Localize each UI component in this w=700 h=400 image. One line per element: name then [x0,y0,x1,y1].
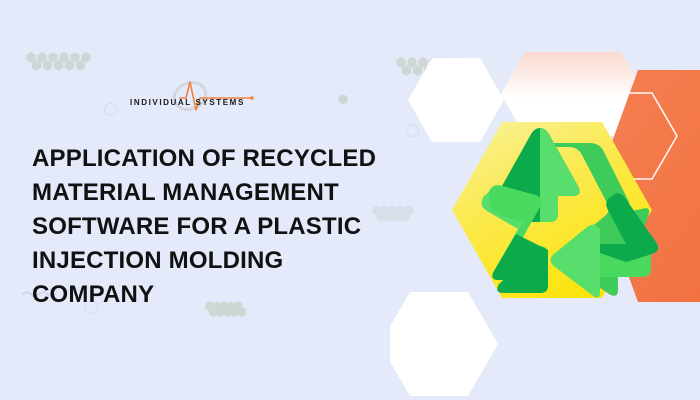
logo-pulse-endpoint [250,96,254,100]
ring-top-left [104,103,117,116]
hex-dot-cluster-top-left [26,50,104,76]
company-logo: INDIVIDUAL SYSTEMS [128,78,258,118]
hex-dot-single [338,94,350,106]
recycling-hexagon-illustration [390,0,700,400]
white-hexagon-lower-left [390,292,498,396]
logo-wordmark: INDIVIDUAL SYSTEMS [130,98,245,107]
page-title: Application of recycled material managem… [32,142,384,312]
white-hexagon-upper-left [408,58,504,142]
banner-canvas: INDIVIDUAL SYSTEMS Application of recycl… [0,0,700,400]
